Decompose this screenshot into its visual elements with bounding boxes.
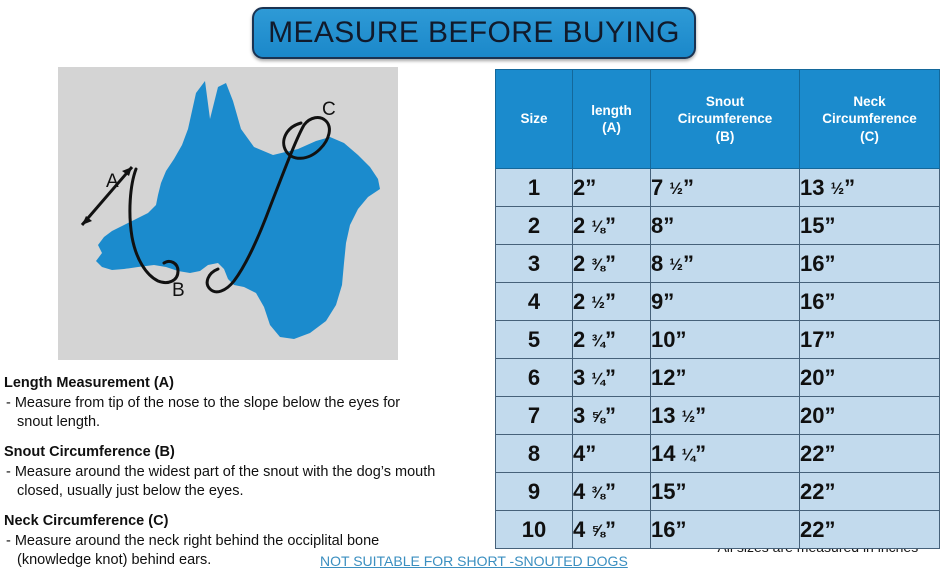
column-header-length: length (A) xyxy=(573,70,651,169)
length-cell: 4 ⅝” xyxy=(573,511,651,549)
column-header-size: Size xyxy=(496,70,573,169)
snout-cell: 15” xyxy=(651,473,800,511)
neck-cell: 16” xyxy=(800,245,940,283)
table-row: 104 ⅝”16”22” xyxy=(496,511,940,549)
table-header: Size length (A) Snout Circumference (B) … xyxy=(496,70,940,169)
length-cell: 3 ¼” xyxy=(573,359,651,397)
not-suitable-warning: NOT SUITABLE FOR SHORT -SNOUTED DOGS xyxy=(320,553,628,569)
column-header-size-line1: Size xyxy=(496,110,572,127)
neck-cell: 22” xyxy=(800,511,940,549)
table-row: 84”14 ¼”22” xyxy=(496,435,940,473)
neck-cell: 22” xyxy=(800,435,940,473)
instruction-line-1: - Measure from tip of the nose to the sl… xyxy=(6,395,400,411)
neck-cell: 15” xyxy=(800,207,940,245)
table-body: 12”7 ½”13 ½”22 ⅛”8”15”32 ⅜”8 ½”16”42 ½”9… xyxy=(496,169,940,549)
measurement-instructions: Length Measurement (A) - Measure from ti… xyxy=(4,374,484,581)
neck-cell: 20” xyxy=(800,397,940,435)
table-row: 52 ¾”10”17” xyxy=(496,321,940,359)
column-header-snout-line3: (B) xyxy=(651,128,799,145)
snout-cell: 10” xyxy=(651,321,800,359)
snout-cell: 12” xyxy=(651,359,800,397)
table-row: 63 ¼”12”20” xyxy=(496,359,940,397)
title-banner: MEASURE BEFORE BUYING xyxy=(252,7,696,59)
length-cell: 2 ½” xyxy=(573,283,651,321)
snout-cell: 14 ¼” xyxy=(651,435,800,473)
table-header-row: Size length (A) Snout Circumference (B) … xyxy=(496,70,940,169)
snout-cell: 8 ½” xyxy=(651,245,800,283)
length-cell: 2 ⅜” xyxy=(573,245,651,283)
size-cell: 10 xyxy=(496,511,573,549)
column-header-snout: Snout Circumference (B) xyxy=(651,70,800,169)
table-row: 12”7 ½”13 ½” xyxy=(496,169,940,207)
instruction-body: - Measure around the widest part of the … xyxy=(4,463,484,502)
column-header-neck: Neck Circumference (C) xyxy=(800,70,940,169)
length-cell: 2 ¾” xyxy=(573,321,651,359)
label-a: A xyxy=(106,171,119,192)
instruction-group-snout: Snout Circumference (B) - Measure around… xyxy=(4,443,484,501)
table-row: 22 ⅛”8”15” xyxy=(496,207,940,245)
length-cell: 4” xyxy=(573,435,651,473)
column-header-neck-line2: Circumference xyxy=(800,110,939,127)
instruction-heading: Neck Circumference (C) xyxy=(4,512,484,532)
instruction-heading: Length Measurement (A) xyxy=(4,374,484,394)
size-cell: 6 xyxy=(496,359,573,397)
neck-cell: 20” xyxy=(800,359,940,397)
instruction-heading: Snout Circumference (B) xyxy=(4,443,484,463)
instruction-line-1: - Measure around the widest part of the … xyxy=(6,464,435,480)
size-chart-table: Size length (A) Snout Circumference (B) … xyxy=(495,69,940,549)
dog-silhouette-shape xyxy=(96,81,380,339)
length-cell: 4 ⅜” xyxy=(573,473,651,511)
column-header-neck-line1: Neck xyxy=(800,93,939,110)
length-cell: 2 ⅛” xyxy=(573,207,651,245)
instruction-group-length: Length Measurement (A) - Measure from ti… xyxy=(4,374,484,432)
neck-cell: 17” xyxy=(800,321,940,359)
size-cell: 2 xyxy=(496,207,573,245)
table-row: 73 ⅝”13 ½”20” xyxy=(496,397,940,435)
label-b: B xyxy=(172,280,185,301)
snout-cell: 16” xyxy=(651,511,800,549)
table-row: 94 ⅜”15”22” xyxy=(496,473,940,511)
instruction-line-2: closed, usually just below the eyes. xyxy=(6,482,484,501)
snout-cell: 7 ½” xyxy=(651,169,800,207)
size-cell: 1 xyxy=(496,169,573,207)
snout-cell: 13 ½” xyxy=(651,397,800,435)
instruction-line-2: snout length. xyxy=(6,413,484,432)
size-cell: 4 xyxy=(496,283,573,321)
column-header-snout-line2: Circumference xyxy=(651,110,799,127)
length-cell: 2” xyxy=(573,169,651,207)
dog-measurement-diagram: A B C xyxy=(58,67,398,360)
column-header-length-line1: length xyxy=(573,102,650,119)
size-cell: 8 xyxy=(496,435,573,473)
size-cell: 3 xyxy=(496,245,573,283)
snout-cell: 9” xyxy=(651,283,800,321)
column-header-neck-line3: (C) xyxy=(800,128,939,145)
page-title: MEASURE BEFORE BUYING xyxy=(268,18,680,48)
instruction-line-1: - Measure around the neck right behind t… xyxy=(6,533,379,549)
neck-cell: 22” xyxy=(800,473,940,511)
label-c: C xyxy=(322,99,336,120)
dog-head-illustration: A B C xyxy=(58,67,398,360)
table-row: 42 ½”9”16” xyxy=(496,283,940,321)
size-cell: 5 xyxy=(496,321,573,359)
instruction-body: - Measure from tip of the nose to the sl… xyxy=(4,394,484,433)
table-row: 32 ⅜”8 ½”16” xyxy=(496,245,940,283)
length-cell: 3 ⅝” xyxy=(573,397,651,435)
size-cell: 9 xyxy=(496,473,573,511)
snout-cell: 8” xyxy=(651,207,800,245)
column-header-snout-line1: Snout xyxy=(651,93,799,110)
neck-cell: 13 ½” xyxy=(800,169,940,207)
size-cell: 7 xyxy=(496,397,573,435)
column-header-length-line2: (A) xyxy=(573,119,650,136)
neck-cell: 16” xyxy=(800,283,940,321)
